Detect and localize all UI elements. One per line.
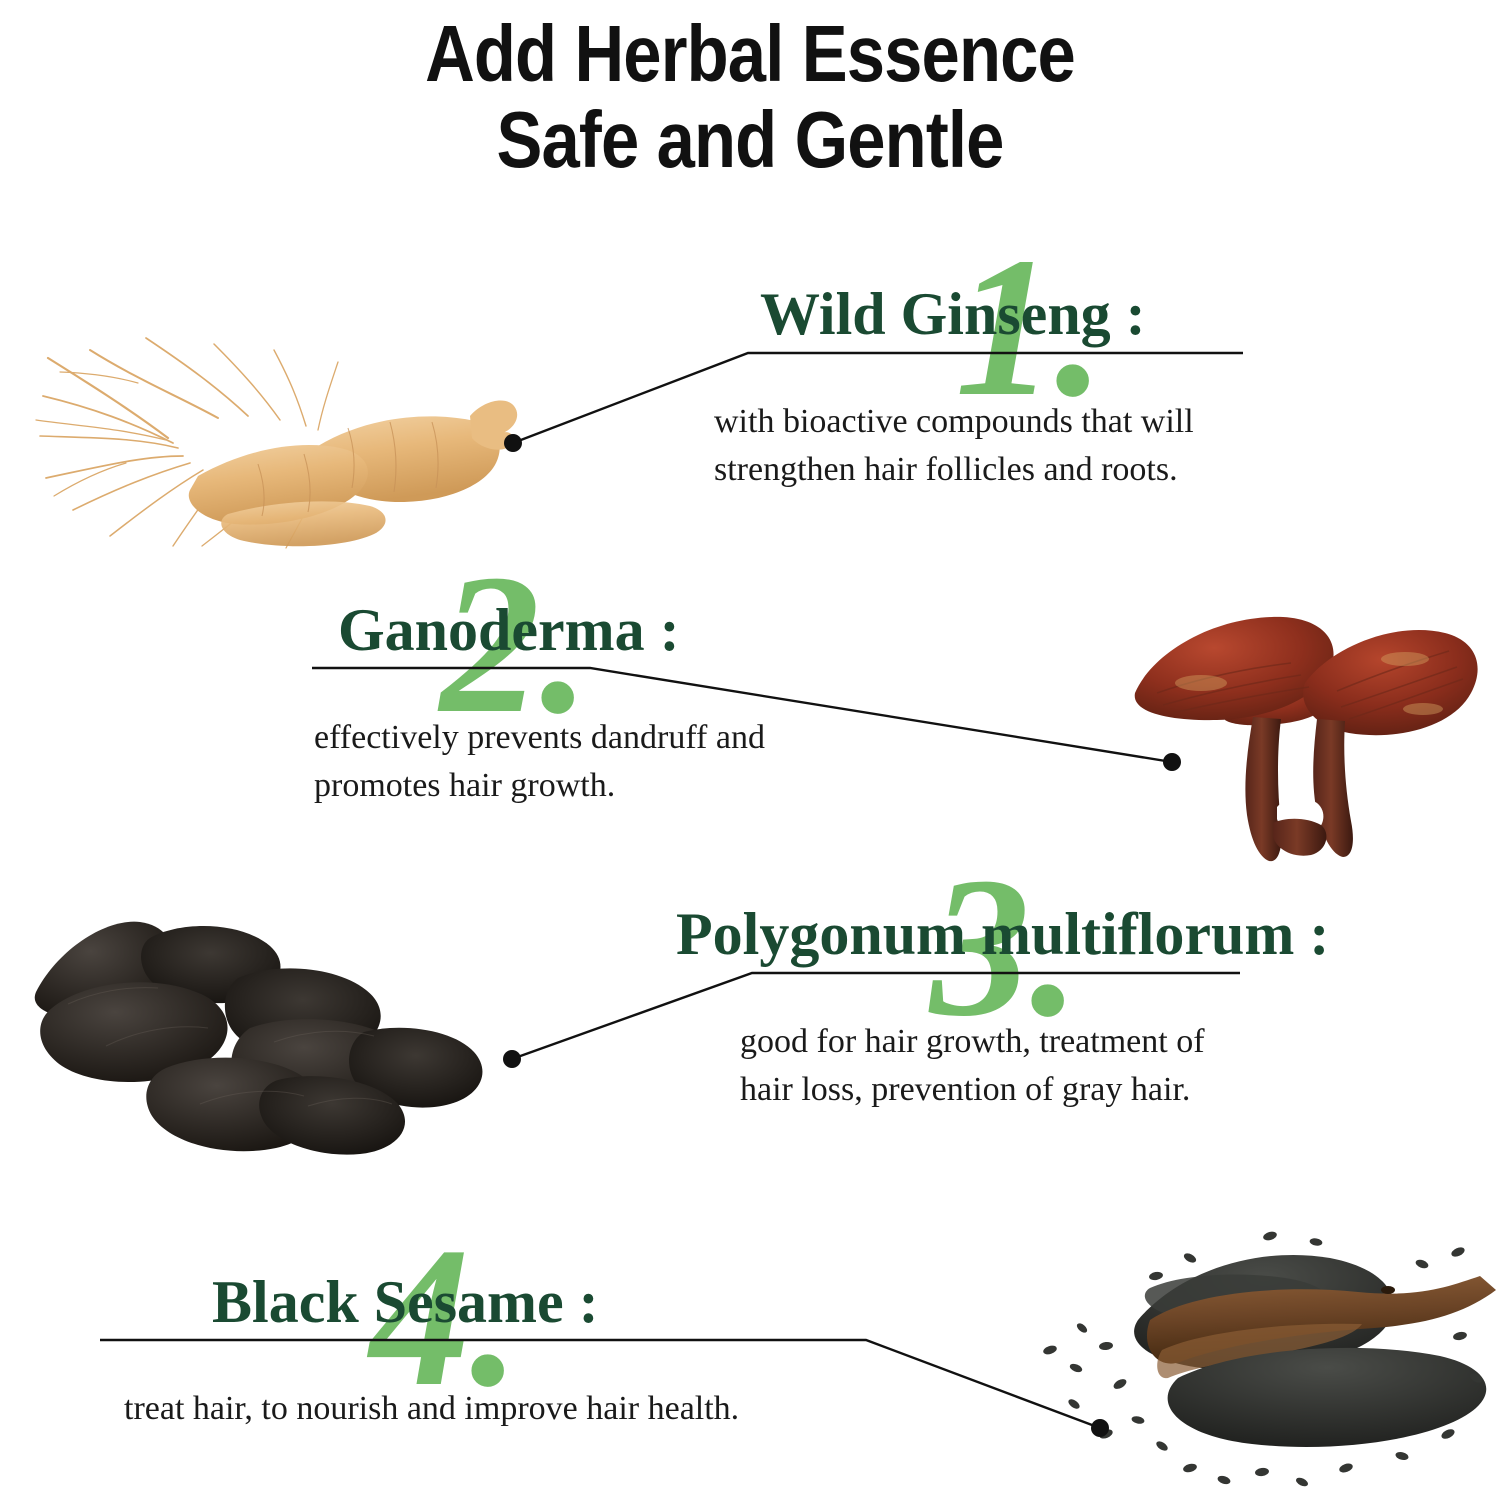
black-sesame-seeds-image — [1010, 1228, 1500, 1500]
section-body-ganoderma: effectively prevents dandruff and promot… — [314, 714, 874, 811]
section-body-wild-ginseng: with bioactive compounds that will stren… — [714, 398, 1274, 495]
section-heading-black-sesame: Black Sesame : — [212, 1268, 599, 1337]
section-body-polygonum-multiflorum: good for hair growth, treatment of hair … — [740, 1018, 1300, 1115]
page-title: Add Herbal Essence Safe and Gentle — [0, 14, 1500, 180]
section-heading-ganoderma: Ganoderma : — [338, 596, 680, 665]
section-heading-polygonum-multiflorum: Polygonum multiflorum : — [676, 900, 1329, 969]
section-body-black-sesame: treat hair, to nourish and improve hair … — [124, 1385, 924, 1433]
polygonum-multiflorum-slices-image — [22, 900, 512, 1185]
ganoderma-mushroom-image — [1105, 575, 1495, 865]
infographic-page: Add Herbal Essence Safe and Gentle — [0, 0, 1500, 1500]
title-line-1: Add Herbal Essence — [105, 14, 1395, 94]
section-heading-wild-ginseng: Wild Ginseng : — [760, 280, 1146, 349]
title-line-2: Safe and Gentle — [105, 100, 1395, 180]
wild-ginseng-root-image — [18, 288, 528, 553]
